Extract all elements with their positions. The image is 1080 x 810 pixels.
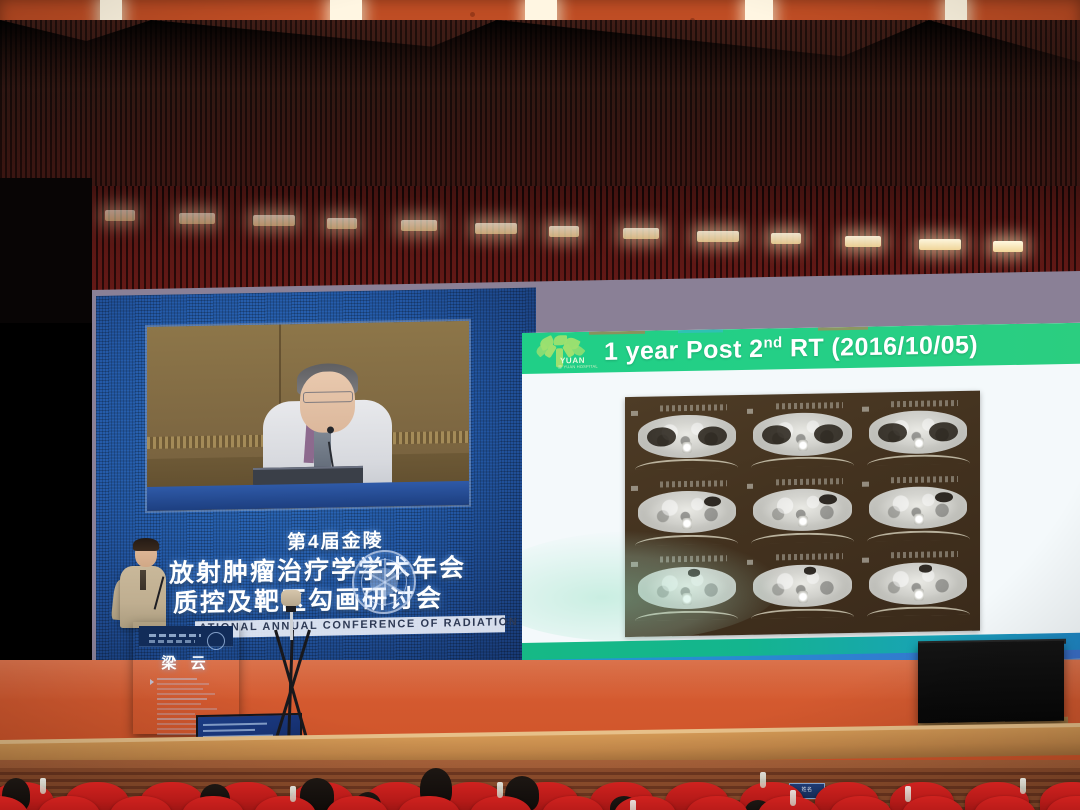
lectern-header-line bbox=[149, 634, 201, 637]
water-bottle bbox=[760, 772, 766, 788]
lectern-bullet-line bbox=[157, 703, 201, 705]
lectern-bullet-line bbox=[157, 698, 207, 700]
ct-slice-vertebra bbox=[798, 591, 808, 602]
ct-slice-side-text bbox=[747, 408, 754, 413]
ct-slice-side-text bbox=[631, 486, 638, 491]
ceiling-fixture-dot bbox=[470, 12, 475, 17]
lectern-screen-header bbox=[139, 626, 233, 647]
stage-light bbox=[401, 220, 437, 231]
slide-title-ordinal: nd bbox=[763, 334, 782, 351]
stage-light bbox=[623, 228, 659, 239]
ct-slice-table-line bbox=[867, 605, 970, 617]
water-bottle bbox=[630, 800, 636, 810]
stage-light bbox=[919, 239, 961, 250]
ct-slice-header-text bbox=[776, 478, 843, 485]
ct-slice bbox=[862, 399, 974, 472]
ct-slice-side-text bbox=[631, 411, 638, 416]
ct-slice-gas-bubble bbox=[804, 567, 816, 574]
ct-slice-vertebra bbox=[914, 438, 924, 449]
ct-slice-gas-bubble bbox=[919, 565, 931, 572]
lectern-bullet-line bbox=[157, 683, 209, 685]
stage-light bbox=[771, 233, 801, 244]
water-bottle bbox=[905, 786, 911, 802]
stage-light bbox=[105, 210, 135, 221]
water-bottle bbox=[497, 782, 503, 798]
ct-slice-side-text bbox=[747, 484, 754, 489]
ct-slice-header-text bbox=[891, 551, 958, 558]
ct-slice-vertebra bbox=[682, 518, 692, 529]
ct-slice bbox=[862, 474, 974, 547]
ct-slice-table-line bbox=[751, 607, 854, 619]
lectern-bullet-line bbox=[157, 713, 195, 715]
ct-slice bbox=[747, 476, 859, 549]
ct-slice-vertebra bbox=[682, 442, 692, 453]
water-bottle bbox=[290, 786, 296, 802]
lectern-header-line bbox=[149, 640, 195, 643]
speaker-name-display: 梁 云 bbox=[133, 652, 239, 673]
lectern-bullet-line bbox=[157, 678, 197, 680]
live-video-feed bbox=[147, 321, 469, 511]
video-feed-glasses bbox=[303, 391, 353, 403]
ct-slice-table-line bbox=[635, 458, 738, 470]
ct-slice-header-text bbox=[891, 476, 958, 483]
lectern-bullet-line bbox=[157, 733, 199, 735]
ct-slice-vertebra bbox=[914, 513, 924, 524]
slide-title-main: 1 year Post 2 bbox=[604, 335, 763, 366]
ct-slice-table-line bbox=[867, 530, 970, 542]
water-bottle bbox=[40, 778, 46, 794]
ct-slice-table-line bbox=[751, 532, 854, 544]
stage-light bbox=[845, 236, 881, 247]
stage-light bbox=[697, 231, 739, 242]
ct-slice-side-text bbox=[862, 482, 869, 487]
stage-light bbox=[549, 226, 579, 237]
slide-title-tail: RT (2016/10/05) bbox=[783, 331, 978, 363]
yuan-logo-subtext: 源 YUAN HOSPITAL bbox=[558, 363, 598, 370]
speaker-necktie bbox=[140, 570, 146, 590]
slide-title: 1 year Post 2nd RT (2016/10/05) bbox=[604, 330, 978, 366]
yuan-tree-logo: YUAN 源 YUAN HOSPITAL bbox=[534, 334, 590, 371]
water-bottle bbox=[790, 790, 796, 806]
speaker-hair bbox=[133, 538, 159, 551]
tripod-center-column bbox=[290, 612, 293, 640]
stage-light bbox=[993, 241, 1023, 252]
ct-slice-vertebra bbox=[798, 516, 808, 527]
conference-photo-scene: 第4届金陵 放射肿瘤治疗学学术年会 质控及靶区勾画研讨会 ATIONAL ANN… bbox=[0, 0, 1080, 810]
stage-light bbox=[327, 218, 357, 229]
ct-slice-vertebra bbox=[914, 589, 924, 600]
lectern-bullet-line bbox=[157, 708, 217, 710]
stage-light bbox=[179, 213, 215, 224]
ct-slice-header-text bbox=[776, 402, 843, 409]
ct-slice-header-text bbox=[660, 404, 727, 411]
ct-slice bbox=[747, 401, 859, 474]
lectern-emblem-icon bbox=[207, 632, 225, 650]
ct-slice-side-text bbox=[862, 558, 869, 563]
ct-slice-header-text bbox=[776, 553, 843, 560]
ct-slice-vertebra bbox=[798, 440, 808, 451]
draped-side-table bbox=[918, 641, 1064, 724]
ct-slice-side-text bbox=[862, 406, 869, 411]
ct-slice bbox=[862, 550, 974, 623]
stage-light bbox=[475, 223, 517, 234]
slide-title-bar: YUAN 源 YUAN HOSPITAL 1 year Post 2nd RT … bbox=[522, 323, 1080, 374]
ct-slice-table-line bbox=[751, 456, 854, 468]
ct-slice-table-line bbox=[867, 454, 970, 466]
left-wing-dark bbox=[0, 178, 92, 323]
wall-shadow bbox=[0, 20, 1080, 90]
ct-slice bbox=[631, 403, 743, 476]
ct-slice-header-text bbox=[891, 400, 958, 407]
water-bottle bbox=[1020, 778, 1026, 794]
ct-slice-header-text bbox=[660, 480, 727, 487]
lectern-bullet-line bbox=[157, 688, 203, 690]
stage-light bbox=[253, 215, 295, 226]
presentation-slide: YUAN 源 YUAN HOSPITAL 1 year Post 2nd RT … bbox=[522, 323, 1080, 669]
camera-icon bbox=[281, 590, 301, 606]
lectern-bullet-arrow-icon bbox=[150, 679, 154, 685]
lectern-bullet-line bbox=[157, 693, 215, 695]
